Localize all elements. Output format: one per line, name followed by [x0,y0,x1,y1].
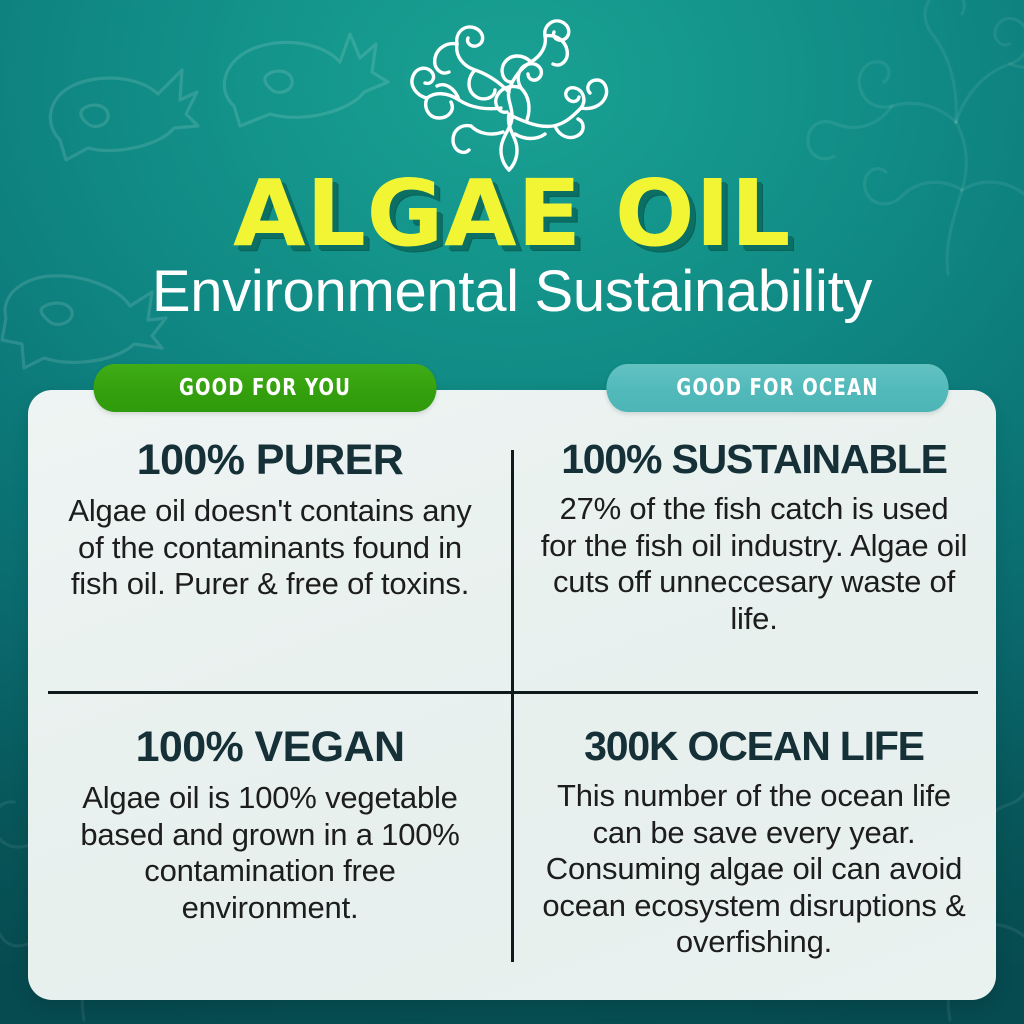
fish-icon [22,48,222,168]
benefit-body-purer: Algae oil doesn't contains any of the co… [54,493,486,603]
benefit-cell-sustainable: 100% SUSTAINABLE 27% of the fish catch i… [512,390,996,695]
infographic-poster: ALGAE OIL Environmental Sustainability G… [0,0,1024,1024]
benefit-body-vegan: Algae oil is 100% vegetable based and gr… [54,780,486,926]
benefit-cell-vegan: 100% VEGAN Algae oil is 100% vegetable b… [28,695,512,1000]
benefit-title-sustainable: 100% SUSTAINABLE [561,438,947,481]
benefit-title-ocean-life: 300K OCEAN LIFE [584,725,924,768]
benefit-body-ocean-life: This number of the ocean life can be sav… [538,778,970,961]
page-subtitle: Environmental Sustainability [0,262,1024,323]
benefits-card: 100% PURER Algae oil doesn't contains an… [28,390,996,1000]
benefit-title-vegan: 100% VEGAN [136,725,405,770]
vertical-divider [511,450,514,962]
benefit-body-sustainable: 27% of the fish catch is used for the fi… [538,491,970,637]
fish-icon [200,20,400,140]
benefit-title-purer: 100% PURER [137,438,403,483]
badge-good-for-ocean-label: GOOD FOR OCEAN [676,375,878,401]
seaweed-coral-icon [397,12,627,174]
benefit-cell-purer: 100% PURER Algae oil doesn't contains an… [28,390,512,695]
benefit-cell-ocean-life: 300K OCEAN LIFE This number of the ocean… [512,695,996,1000]
badge-good-for-you: GOOD FOR YOU [93,364,436,412]
horizontal-divider [48,691,978,694]
badge-good-for-you-label: GOOD FOR YOU [179,375,351,401]
page-title: ALGAE OIL [0,168,1024,260]
badge-good-for-ocean: GOOD FOR OCEAN [606,364,948,412]
seaweed-coral-logo [397,12,627,174]
